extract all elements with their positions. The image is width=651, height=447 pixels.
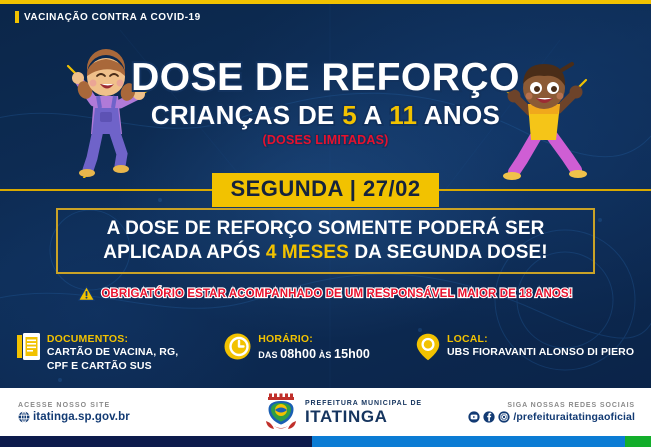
info-documents-value-line1: CARTÃO DE VACINA, RG,	[47, 346, 178, 358]
date-banner-label: SEGUNDA | 27/02	[212, 173, 438, 207]
message-box: A DOSE DE REFORÇO SOMENTE PODERÁ SER APL…	[56, 208, 595, 274]
info-documents-value-line2: CPF E CARTÃO SUS	[47, 360, 152, 372]
footer: ACESSE NOSSO SITE itatinga.sp.gov.br	[0, 388, 651, 436]
message-text: A DOSE DE REFORÇO SOMENTE PODERÁ SER APL…	[103, 217, 547, 265]
id-card-icon	[17, 333, 40, 360]
footer-crest-text: PREFEITURA MUNICIPAL DE ITATINGA	[305, 400, 422, 425]
title-line-2-prefix: CRIANÇAS DE	[151, 100, 342, 130]
color-segment-navy	[0, 436, 312, 447]
warning-row: OBRIGATÓRIO ESTAR ACOMPANHADO DE UM RESP…	[0, 286, 651, 301]
footer-crest-line-1: PREFEITURA MUNICIPAL DE	[305, 400, 422, 407]
info-location-label: LOCAL:	[447, 333, 634, 346]
footer-color-bar	[0, 436, 651, 447]
footer-crest-block: PREFEITURA MUNICIPAL DE ITATINGA	[250, 393, 436, 431]
info-schedule-value: DAS 08h00 ÀS 15h00	[258, 346, 370, 363]
title-age-max: 11	[389, 100, 417, 130]
title-line-2-mid: A	[357, 100, 389, 130]
clock-icon	[224, 333, 251, 360]
footer-site-block: ACESSE NOSSO SITE itatinga.sp.gov.br	[0, 402, 250, 423]
facebook-icon[interactable]	[483, 411, 495, 423]
info-schedule-start: 08h00	[280, 347, 316, 361]
info-schedule-end: 15h00	[334, 347, 370, 361]
footer-site-link[interactable]: itatinga.sp.gov.br	[18, 411, 250, 423]
info-documents-value: CARTÃO DE VACINA, RG, CPF E CARTÃO SUS	[47, 346, 178, 373]
location-pin-icon	[416, 333, 440, 361]
date-banner: SEGUNDA | 27/02	[0, 173, 651, 207]
title-line-1: DOSE DE REFORÇO	[0, 58, 651, 97]
info-location-value: UBS FIORAVANTI ALONSO DI PIERO	[447, 346, 634, 360]
info-schedule-prefix: DAS	[258, 350, 280, 360]
info-schedule-label: HORÁRIO:	[258, 333, 370, 346]
footer-social-label: SIGA NOSSAS REDES SOCIAIS	[436, 402, 635, 409]
color-segment-blue	[312, 436, 624, 447]
header-tag: VACINAÇÃO CONTRA A COVID-19	[15, 11, 201, 23]
info-documents-label: DOCUMENTOS:	[47, 333, 178, 346]
message-highlight: 4 MESES	[266, 242, 349, 263]
globe-icon	[18, 411, 30, 423]
footer-site-url: itatinga.sp.gov.br	[33, 411, 130, 423]
warning-text: OBRIGATÓRIO ESTAR ACOMPANHADO DE UM RESP…	[101, 288, 572, 300]
instagram-icon[interactable]	[498, 411, 510, 423]
message-line-1: A DOSE DE REFORÇO SOMENTE PODERÁ SER	[107, 218, 545, 239]
header-tag-label: VACINAÇÃO CONTRA A COVID-19	[24, 12, 201, 23]
info-schedule-mid: ÀS	[316, 350, 334, 360]
color-segment-green	[625, 436, 651, 447]
footer-social-handle[interactable]: /prefeituraitatingaoficial	[513, 411, 635, 423]
footer-site-label: ACESSE NOSSO SITE	[18, 402, 250, 409]
title-line-2: CRIANÇAS DE 5 A 11 ANOS	[0, 101, 651, 130]
info-row: DOCUMENTOS: CARTÃO DE VACINA, RG, CPF E …	[0, 333, 651, 373]
message-line-2-suffix: DA SEGUNDA DOSE!	[349, 242, 548, 263]
title-age-min: 5	[342, 100, 357, 130]
date-rule-right	[439, 189, 651, 191]
header-accent-bar	[15, 11, 19, 23]
youtube-icon[interactable]	[468, 411, 480, 423]
date-rule-left	[0, 189, 212, 191]
info-schedule-text: HORÁRIO: DAS 08h00 ÀS 15h00	[258, 333, 370, 363]
title-limited-doses: (DOSES LIMITADAS)	[0, 133, 651, 147]
footer-crest-line-2: ITATINGA	[305, 408, 422, 425]
warning-triangle-icon	[78, 286, 95, 301]
vaccination-poster: VACINAÇÃO CONTRA A COVID-19	[0, 0, 651, 447]
main-title-block: DOSE DE REFORÇO CRIANÇAS DE 5 A 11 ANOS …	[0, 58, 651, 147]
top-accent-line	[0, 0, 651, 4]
title-line-2-suffix: ANOS	[417, 100, 500, 130]
info-location-text: LOCAL: UBS FIORAVANTI ALONSO DI PIERO	[447, 333, 634, 360]
info-item-schedule: HORÁRIO: DAS 08h00 ÀS 15h00	[224, 333, 370, 363]
footer-social-block: SIGA NOSSAS REDES SOCIAIS /prefe	[436, 402, 651, 423]
info-item-location: LOCAL: UBS FIORAVANTI ALONSO DI PIERO	[416, 333, 634, 361]
footer-social-row: /prefeituraitatingaoficial	[436, 411, 635, 423]
info-documents-text: DOCUMENTOS: CARTÃO DE VACINA, RG, CPF E …	[47, 333, 178, 373]
itatinga-coat-of-arms	[264, 393, 298, 431]
info-item-documents: DOCUMENTOS: CARTÃO DE VACINA, RG, CPF E …	[17, 333, 178, 373]
message-line-2-prefix: APLICADA APÓS	[103, 242, 266, 263]
